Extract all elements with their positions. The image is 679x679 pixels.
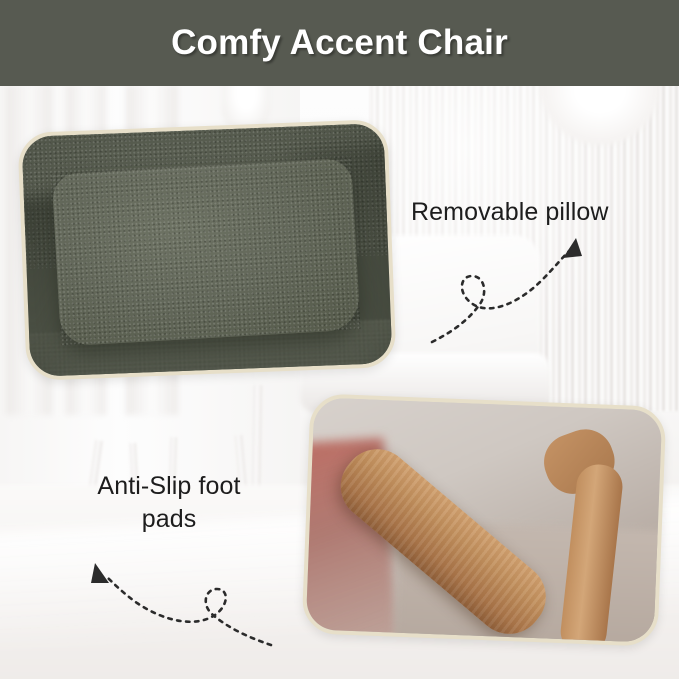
arrow-to-pads-label-icon — [75, 545, 275, 655]
product-infographic: Comfy Accent Chair — [0, 0, 679, 679]
header-banner: Comfy Accent Chair — [0, 0, 679, 86]
label-anti-slip-foot-pads: Anti-Slip foot pads — [64, 470, 274, 536]
arrow-dashed-path — [432, 250, 570, 342]
page-title: Comfy Accent Chair — [171, 23, 508, 63]
arrow-to-pillow-label-icon — [430, 230, 600, 360]
removable-pillow-object — [52, 158, 361, 346]
arrowhead — [563, 238, 582, 258]
pillow-photo — [22, 123, 393, 377]
arrow-dashed-path — [105, 575, 271, 645]
foot-pad-photo — [306, 397, 663, 642]
label-removable-pillow: Removable pillow — [411, 196, 609, 229]
boucle-texture — [52, 158, 361, 346]
callout-anti-slip-foot-pads — [302, 393, 667, 646]
callout-removable-pillow — [17, 119, 396, 381]
arrowhead — [91, 563, 109, 583]
